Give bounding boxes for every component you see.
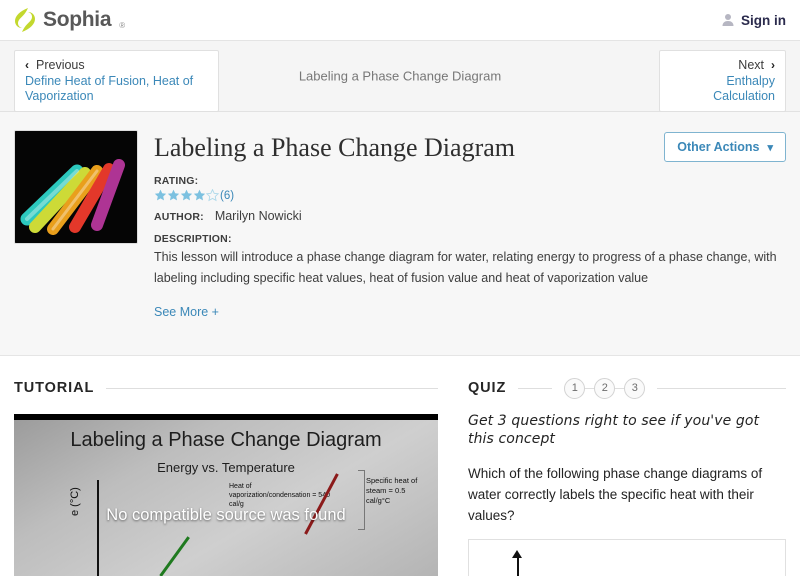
slide-subtitle: Energy vs. Temperature [14, 460, 438, 475]
star-empty-icon [206, 189, 219, 202]
star-rating[interactable] [154, 189, 219, 202]
quiz-step-2[interactable]: 2 [594, 378, 615, 399]
sign-in-button[interactable]: Sign in [721, 13, 786, 28]
divider [657, 388, 786, 389]
quiz-column: QUIZ 1 2 3 Get 3 questions right to see … [468, 378, 786, 576]
chevron-down-icon: ▾ [767, 141, 773, 154]
slide-y-axis [97, 480, 99, 576]
lesson-thumbnail[interactable] [14, 130, 138, 244]
author-name: Marilyn Nowicki [215, 209, 302, 223]
sophia-leaf-logo-icon [14, 7, 36, 33]
slide-title: Labeling a Phase Change Diagram [14, 420, 438, 452]
quiz-tagline: Get 3 questions right to see if you've g… [468, 412, 786, 448]
star-filled-icon [154, 189, 167, 202]
description-label: DESCRIPTION: [154, 233, 786, 245]
slide-note-steam: Specific heat of steam = 0.5 cal/g°C [366, 476, 428, 506]
brand-trademark: ® [119, 21, 125, 33]
tutorial-header: TUTORIAL [14, 378, 438, 398]
tutorial-column: TUTORIAL Labeling a Phase Change Diagram… [14, 378, 438, 576]
rating-row: (6) [154, 189, 786, 202]
lesson-navigation-bar: ‹ Previous Define Heat of Fusion, Heat o… [0, 40, 800, 112]
site-header: Sophia ® Sign in [0, 0, 800, 40]
video-error-message: No compatible source was found [14, 506, 438, 525]
tutorial-section-title: TUTORIAL [14, 380, 94, 396]
author-label: AUTHOR: [154, 211, 204, 223]
next-kicker: Next › [670, 57, 775, 73]
video-slide: Labeling a Phase Change Diagram Energy v… [14, 420, 438, 576]
answer-diagram: °C Specific heat of liquid water = 1.0 c… [487, 548, 785, 576]
quiz-header: QUIZ 1 2 3 [468, 378, 786, 398]
chevron-right-icon: › [771, 59, 775, 71]
person-icon [721, 13, 735, 27]
lower-section: TUTORIAL Labeling a Phase Change Diagram… [0, 356, 800, 576]
divider [585, 388, 594, 389]
other-actions-label: Other Actions [677, 140, 759, 154]
brand-name: Sophia [43, 8, 111, 32]
next-lesson-link[interactable]: Enthalpy Calculation [670, 74, 775, 104]
quiz-question-text: Which of the following phase change diag… [468, 463, 786, 526]
answer-y-axis [517, 554, 519, 576]
star-filled-icon [193, 189, 206, 202]
sign-in-label: Sign in [741, 13, 786, 28]
quiz-answer-option[interactable]: °C Specific heat of liquid water = 1.0 c… [468, 539, 786, 576]
next-lesson-card[interactable]: Next › Enthalpy Calculation [659, 50, 786, 112]
divider [106, 388, 438, 389]
divider [615, 388, 624, 389]
description-text: This lesson will introduce a phase chang… [154, 247, 786, 289]
lesson-details: Labeling a Phase Change Diagram Other Ac… [154, 130, 786, 355]
quiz-step-indicator: 1 2 3 [564, 378, 645, 399]
author-row: AUTHOR: Marilyn Nowicki [154, 209, 786, 223]
rating-count: (6) [220, 190, 234, 202]
quiz-section-title: QUIZ [468, 380, 506, 396]
quiz-step-3[interactable]: 3 [624, 378, 645, 399]
divider [518, 388, 552, 389]
star-filled-icon [180, 189, 193, 202]
quiz-step-1[interactable]: 1 [564, 378, 585, 399]
sophia-logo[interactable]: Sophia ® [14, 7, 125, 33]
other-actions-button[interactable]: Other Actions ▾ [664, 132, 786, 162]
slide-green-segment [159, 536, 190, 576]
lesson-info-panel: Labeling a Phase Change Diagram Other Ac… [0, 112, 800, 356]
star-filled-icon [167, 189, 180, 202]
glow-sticks-image [15, 131, 138, 244]
next-label: Next [738, 57, 764, 73]
rating-label: RATING: [154, 175, 786, 187]
see-more-link[interactable]: See More + [154, 305, 219, 319]
tutorial-video-player[interactable]: Labeling a Phase Change Diagram Energy v… [14, 414, 438, 576]
